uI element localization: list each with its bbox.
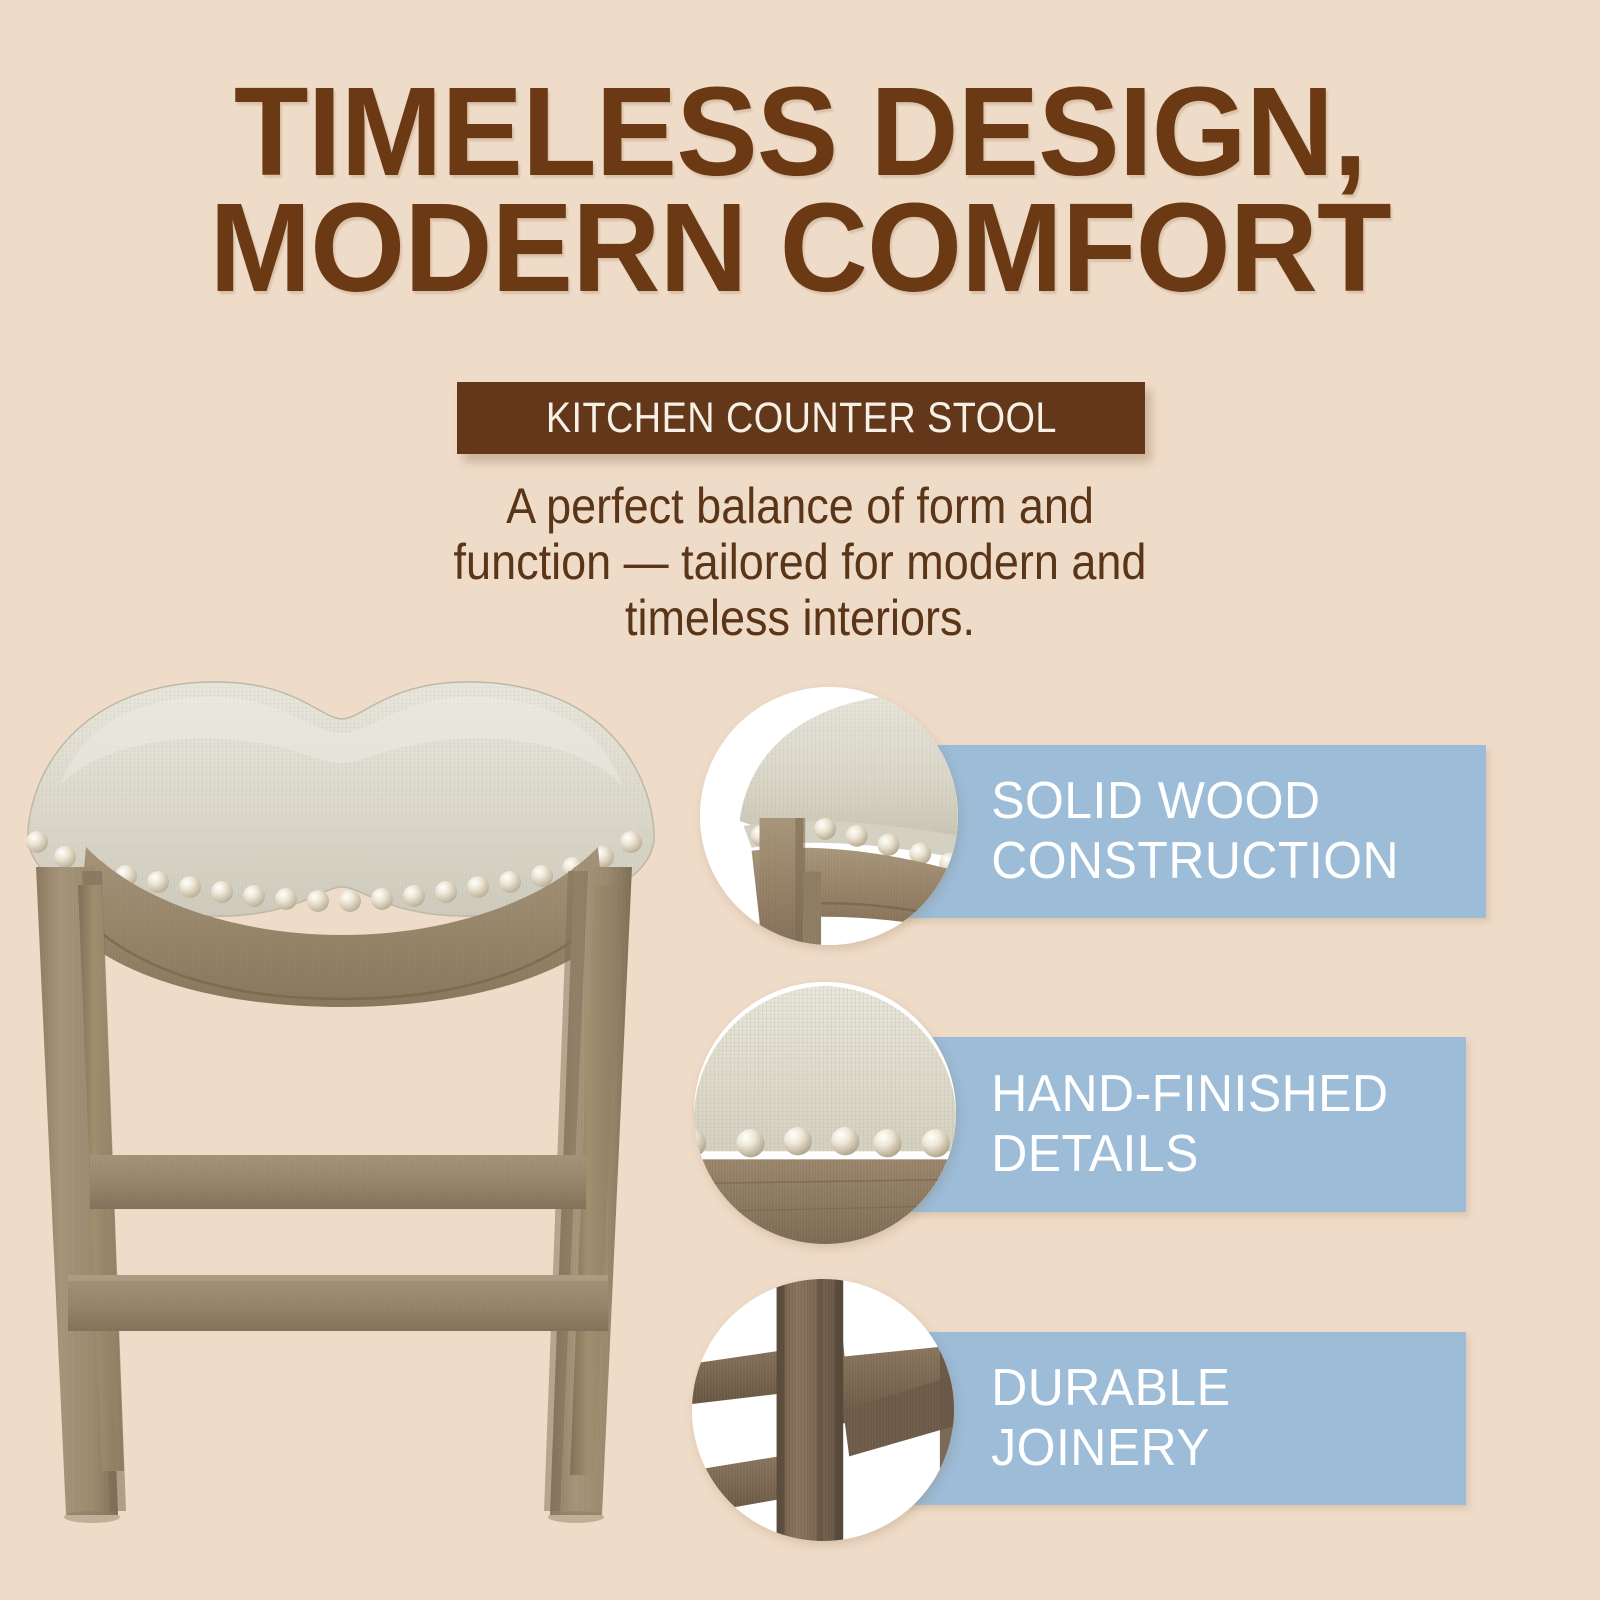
feature-banner-hand-finished-details: HAND-FINISHED DETAILS	[900, 1037, 1466, 1212]
detail-thumbnail-durable-joinery	[692, 1279, 954, 1541]
feature-label-solid-wood-construction: SOLID WOOD CONSTRUCTION	[900, 772, 1399, 891]
detail-thumbnail-hand-finished-details	[694, 982, 956, 1244]
detail-thumbnail-solid-wood-construction	[700, 687, 958, 945]
product-category-badge: KITCHEN COUNTER STOOL	[457, 382, 1145, 454]
headline-line-2: MODERN COMFORT	[24, 190, 1576, 306]
product-feature-graphic: TIMELESS DESIGN, MODERN COMFORT KITCHEN …	[0, 0, 1600, 1600]
page-title: TIMELESS DESIGN, MODERN COMFORT	[24, 74, 1576, 306]
feature-label-hand-finished-details: HAND-FINISHED DETAILS	[900, 1065, 1388, 1184]
subtitle-line-1: A perfect balance of form and	[377, 478, 1223, 534]
product-photo-kitchen-counter-stool	[0, 635, 690, 1565]
feature-banner-durable-joinery: DURABLE JOINERY	[900, 1332, 1466, 1505]
subtitle: A perfect balance of form and function —…	[377, 478, 1223, 646]
headline-line-1: TIMELESS DESIGN,	[24, 74, 1576, 190]
subtitle-line-2: function — tailored for modern and	[377, 534, 1223, 590]
badge-label: KITCHEN COUNTER STOOL	[545, 394, 1056, 443]
feature-label-durable-joinery: DURABLE JOINERY	[900, 1359, 1443, 1478]
feature-banner-solid-wood-construction: SOLID WOOD CONSTRUCTION	[900, 745, 1486, 918]
